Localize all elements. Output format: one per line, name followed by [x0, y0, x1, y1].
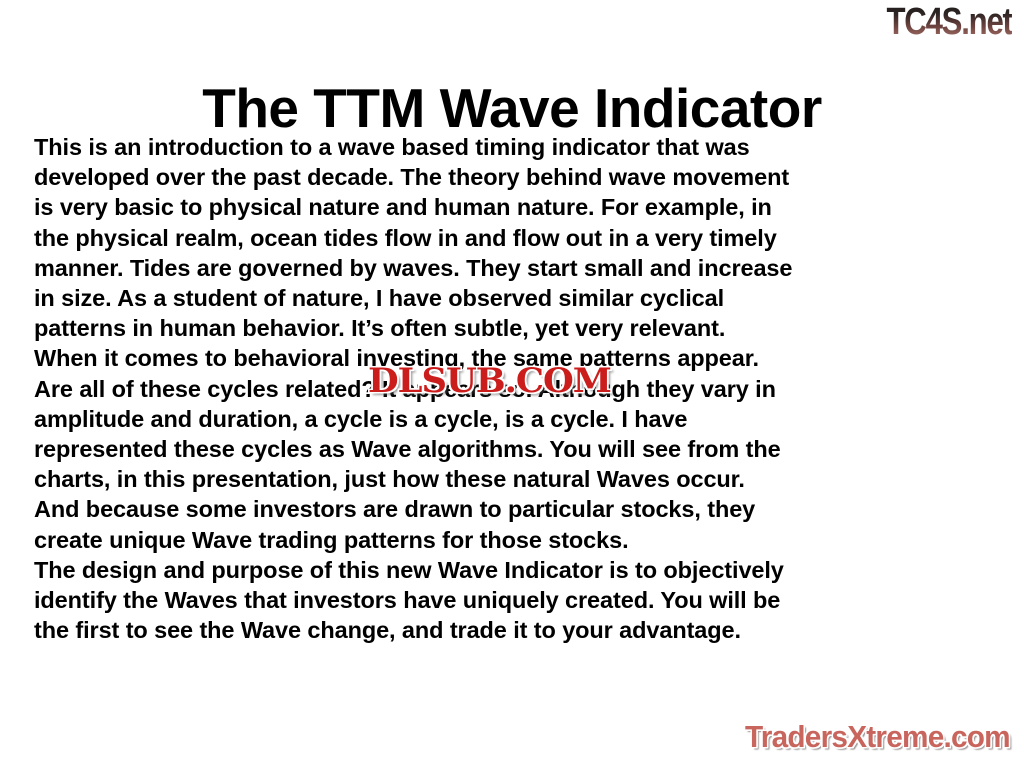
dlsub-watermark: DLSUB.COM — [368, 362, 611, 400]
body-line: This is an introduction to a wave based … — [34, 132, 994, 162]
body-line: the first to see the Wave change, and tr… — [34, 615, 994, 645]
body-line: is very basic to physical nature and hum… — [34, 192, 994, 222]
body-line: patterns in human behavior. It’s often s… — [34, 313, 994, 343]
tc4s-brand-logo: TC4S.net — [887, 2, 1012, 42]
body-line: The design and purpose of this new Wave … — [34, 555, 994, 585]
body-line: represented these cycles as Wave algorit… — [34, 434, 994, 464]
body-line: in size. As a student of nature, I have … — [34, 283, 994, 313]
page-title: The TTM Wave Indicator — [0, 77, 1024, 139]
body-line: create unique Wave trading patterns for … — [34, 525, 994, 555]
body-line: identify the Waves that investors have u… — [34, 585, 994, 615]
body-line: charts, in this presentation, just how t… — [34, 464, 994, 494]
tradersxtreme-brand-logo: TradersXtreme.com — [745, 720, 1010, 754]
body-line: developed over the past decade. The theo… — [34, 162, 994, 192]
body-line: manner. Tides are governed by waves. The… — [34, 253, 994, 283]
presentation-slide: TC4S.net The TTM Wave Indicator This is … — [0, 0, 1024, 768]
body-line: And because some investors are drawn to … — [34, 494, 994, 524]
body-line: amplitude and duration, a cycle is a cyc… — [34, 404, 994, 434]
body-line: the physical realm, ocean tides flow in … — [34, 223, 994, 253]
